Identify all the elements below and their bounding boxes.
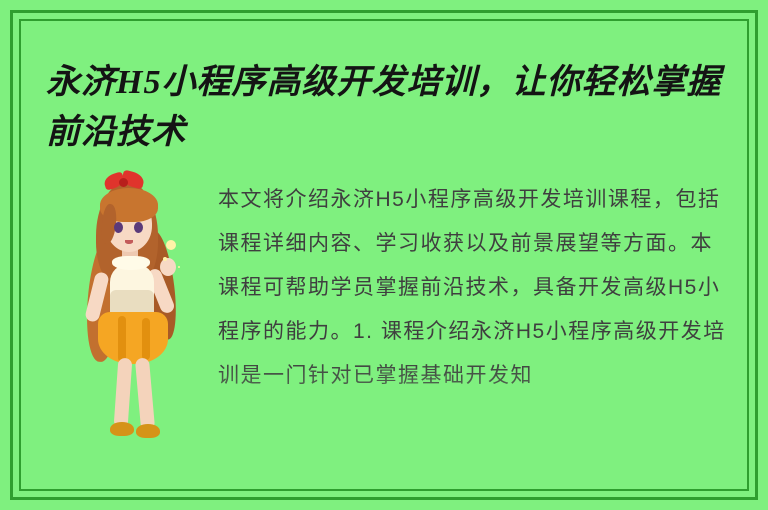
- shoe-left-shape: [110, 422, 134, 436]
- eye-left-icon: [114, 222, 123, 233]
- leg-right-shape: [135, 358, 155, 431]
- sparkle-icon: [166, 240, 176, 250]
- collar-shape: [112, 256, 150, 270]
- mouth-icon: [125, 240, 133, 244]
- body-paragraph: 本文将介绍永济H5小程序高级开发培训课程，包括课程详细内容、学习收获以及前景展望…: [218, 178, 728, 398]
- skirt-fold-one-shape: [118, 316, 126, 362]
- hair-bow-knot-icon: [119, 178, 128, 187]
- page-title: 永济H5小程序高级开发培训，让你轻松掌握前沿技术: [46, 58, 736, 158]
- skirt-shape: [98, 312, 168, 364]
- poster-canvas: 永济H5小程序高级开发培训，让你轻松掌握前沿技术 本文将介绍永济H5小程序高级开…: [0, 0, 768, 510]
- cartoon-girl-illustration: [62, 172, 202, 472]
- hand-right-shape: [160, 258, 176, 276]
- shoe-right-shape: [136, 424, 160, 438]
- eye-right-icon: [134, 222, 143, 233]
- skirt-fold-two-shape: [142, 318, 150, 360]
- leg-left-shape: [114, 358, 133, 429]
